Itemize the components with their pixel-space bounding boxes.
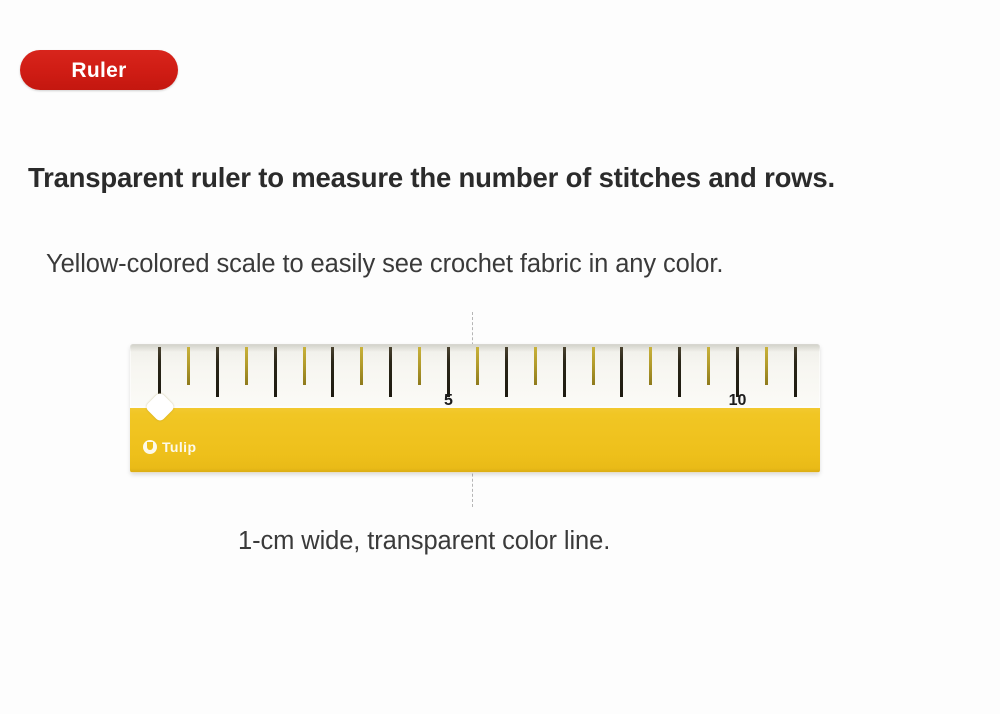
tulip-logo-icon <box>143 440 157 454</box>
ruler-tick-minor <box>707 347 710 385</box>
brand-name-label: Tulip <box>162 440 196 454</box>
ruler-tick-minor <box>187 347 190 385</box>
ruler-tick-minor <box>303 347 306 385</box>
page-heading: Transparent ruler to measure the number … <box>28 162 988 194</box>
ruler-yellow-scale-band <box>130 408 820 472</box>
ruler-badge: Ruler <box>20 50 178 90</box>
brand-logo: Tulip <box>143 440 196 454</box>
ruler-tick-major <box>678 347 681 397</box>
ruler-tick-major <box>620 347 623 397</box>
ruler-body: 510 Tulip <box>130 344 820 473</box>
ruler-tick-major <box>331 347 334 397</box>
ruler-illustration: 510 Tulip <box>130 344 820 473</box>
ruler-tick-minor <box>592 347 595 385</box>
ruler-tick-major <box>505 347 508 397</box>
ruler-tick-major <box>216 347 219 397</box>
ruler-tick-major <box>563 347 566 397</box>
ruler-tick-major <box>274 347 277 397</box>
ruler-tick-major <box>736 347 739 397</box>
ruler-tick-major <box>794 347 797 397</box>
ruler-tick-minor <box>245 347 248 385</box>
ruler-tick-minor <box>649 347 652 385</box>
ruler-bottom-edge-shading <box>130 468 820 473</box>
ruler-tick-minor <box>360 347 363 385</box>
ruler-badge-label: Ruler <box>71 60 126 81</box>
ruler-caption: 1-cm wide, transparent color line. <box>238 527 610 556</box>
ruler-tick-minor <box>418 347 421 385</box>
ruler-tick-minor <box>765 347 768 385</box>
page-subheading: Yellow-colored scale to easily see croch… <box>46 250 986 279</box>
ruler-tick-major <box>447 347 450 397</box>
ruler-tick-major <box>158 347 161 397</box>
ruler-tick-major <box>389 347 392 397</box>
ruler-tick-minor <box>476 347 479 385</box>
ruler-tick-minor <box>534 347 537 385</box>
